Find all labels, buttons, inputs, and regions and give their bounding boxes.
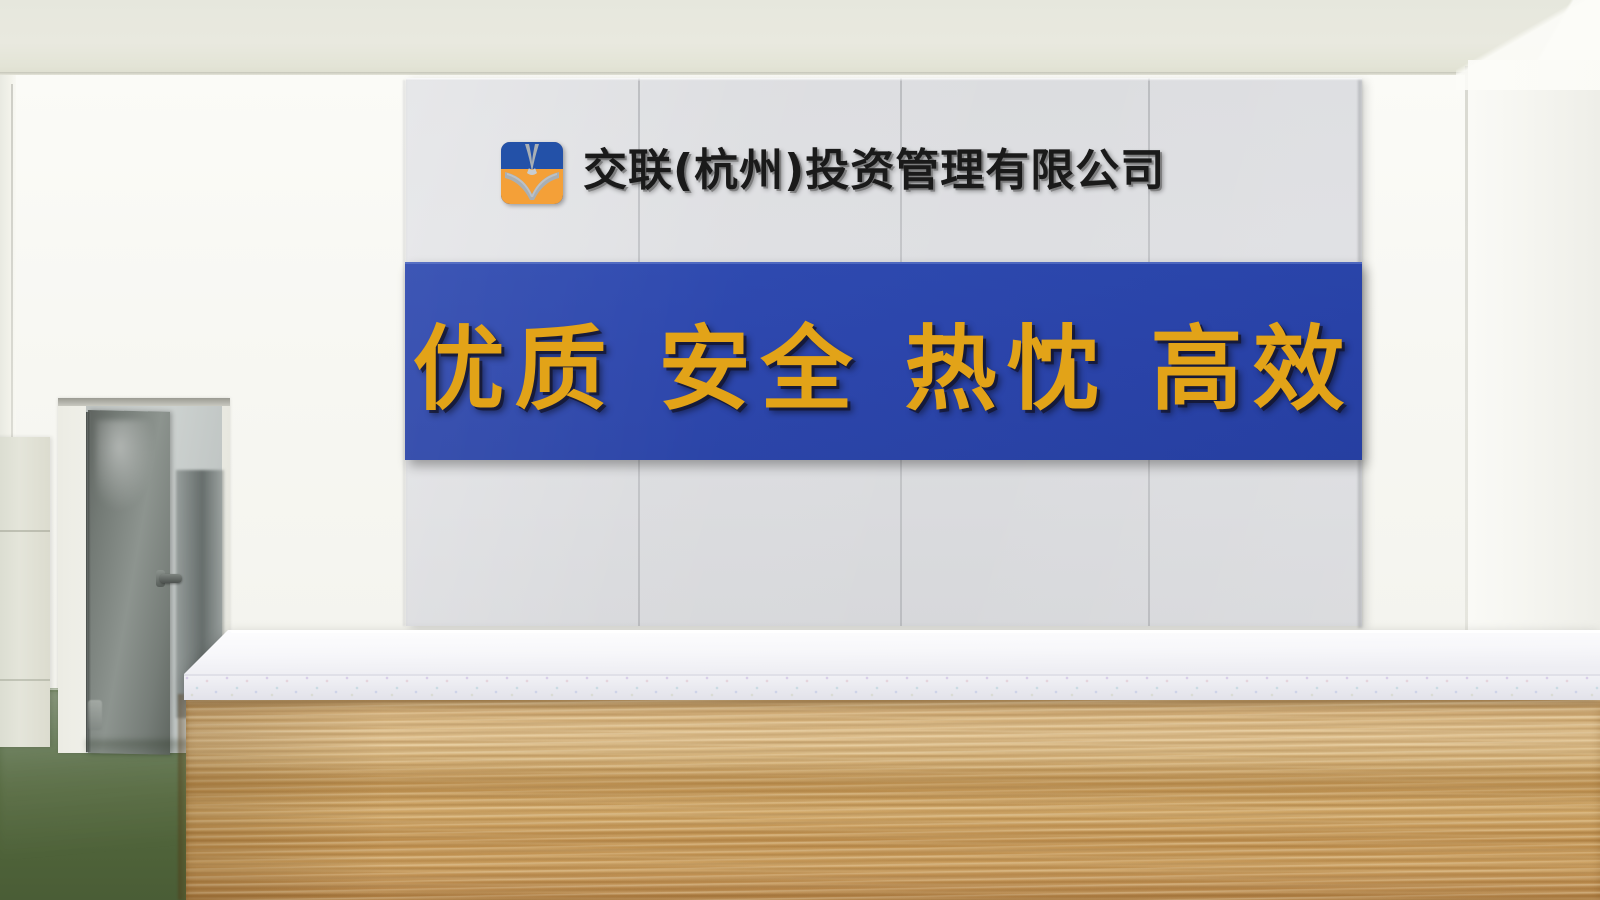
slogan-text: 优质 安全 热忱 高效 — [405, 262, 1362, 460]
door-bottom-hinge — [88, 700, 102, 730]
desk-left-edge — [178, 694, 188, 900]
reception-desk-countertop — [176, 616, 1600, 716]
company-name-text: 交联(杭州)投资管理有限公司 — [583, 140, 1165, 202]
cabinet-seam-lower — [0, 679, 50, 681]
reception-lobby-scene: 交联(杭州)投资管理有限公司 优质 安全 热忱 高效 — [0, 0, 1600, 900]
door-gloss-highlight — [96, 420, 154, 510]
left-cabinet — [0, 437, 50, 747]
reception-desk-front-panel — [186, 700, 1600, 900]
wall-right-corner-top — [1456, 0, 1600, 90]
ceiling — [0, 0, 1600, 78]
panel-wall-top-edge — [406, 78, 1362, 81]
cabinet-seam-upper — [0, 530, 50, 532]
door-frame-header — [58, 398, 230, 406]
ceiling-wall-joint-line — [0, 72, 1600, 75]
door-handle[interactable] — [160, 574, 182, 583]
jiaolian-bridge-logo-icon — [501, 142, 563, 204]
